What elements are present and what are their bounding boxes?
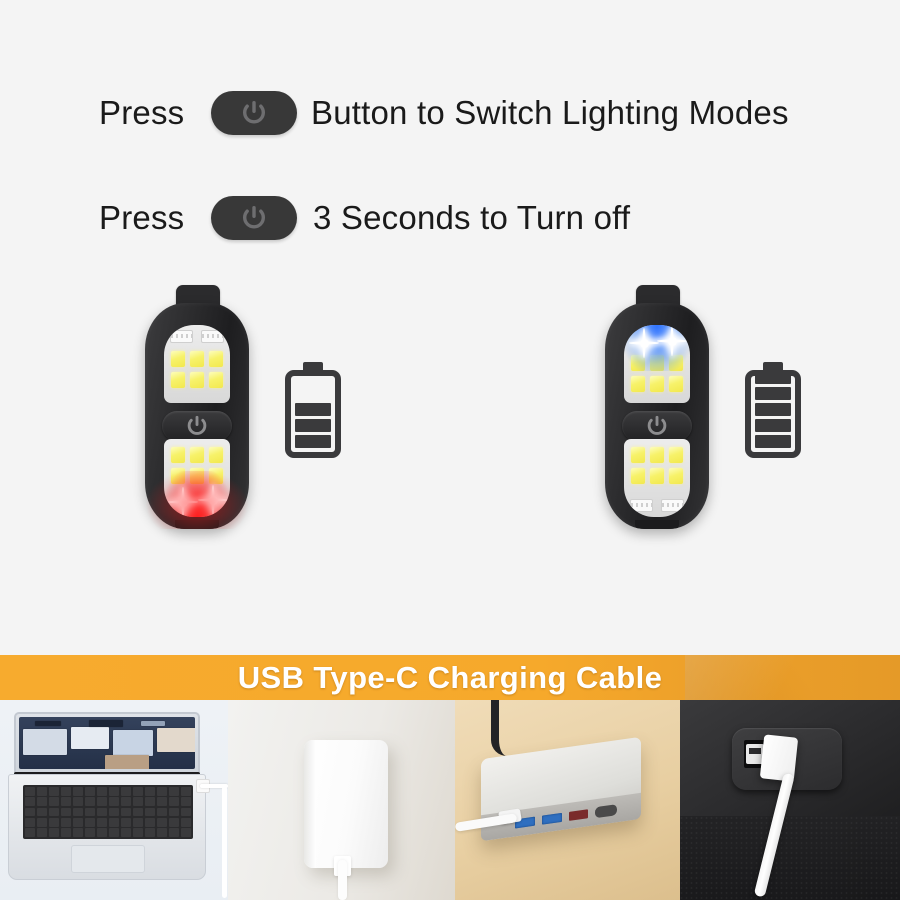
led <box>190 447 204 463</box>
top-led-panel <box>624 325 690 403</box>
battery-bar-empty <box>295 387 331 400</box>
led <box>209 447 223 463</box>
led-grid <box>171 447 223 484</box>
led-grid <box>631 447 683 484</box>
battery-shell <box>745 370 801 458</box>
light-body <box>605 303 709 529</box>
usb-port <box>542 812 562 824</box>
battery-bar-filled <box>755 419 791 432</box>
sparkle-icon <box>629 328 659 358</box>
photo-strip <box>0 700 900 900</box>
sparkle-icon <box>168 487 198 517</box>
device-group-charging-complete <box>605 285 801 535</box>
led-strip <box>170 330 193 343</box>
battery-shell <box>285 370 341 458</box>
led <box>669 376 683 392</box>
product-infographic: Press Button to Switch Lighting Modes Pr… <box>0 0 900 900</box>
instruction-2-tail-text: 3 Seconds to Turn off <box>313 199 630 237</box>
wall-adapter <box>304 740 388 868</box>
laptop-desktop <box>19 717 195 769</box>
adapter-edge <box>304 740 316 868</box>
led <box>171 351 185 367</box>
led <box>190 351 204 367</box>
usb-cable-banner: USB Type-C Charging Cable <box>0 655 900 700</box>
instruction-1-tail-text: Button to Switch Lighting Modes <box>311 94 789 132</box>
bottom-led-panel <box>624 439 690 517</box>
led <box>650 355 664 371</box>
led <box>631 447 645 463</box>
instruction-2-lead-text: Press <box>99 199 195 237</box>
led-grid <box>631 355 683 392</box>
banner-title: USB Type-C Charging Cable <box>238 660 663 696</box>
led-grid <box>171 351 223 388</box>
light-body <box>145 303 249 529</box>
led-strip <box>201 330 224 343</box>
instructions-section: Press Button to Switch Lighting Modes Pr… <box>0 60 900 270</box>
light-foot <box>175 520 219 529</box>
led <box>669 468 683 484</box>
instruction-1-lead-text: Press <box>99 94 195 132</box>
usb-cable <box>338 860 347 900</box>
usb-cable <box>222 786 227 898</box>
usb-hub-charging-photo <box>455 700 680 900</box>
hdmi-port <box>569 809 588 821</box>
power-symbol-icon <box>646 414 668 438</box>
battery-bar-filled <box>755 371 791 384</box>
battery-bar-filled <box>755 387 791 400</box>
led <box>650 447 664 463</box>
light-foot <box>635 520 679 529</box>
led <box>631 355 645 371</box>
power-button-icon <box>211 91 297 135</box>
power-button-icon <box>211 196 297 240</box>
led <box>209 351 223 367</box>
hub-black-cable <box>491 700 507 756</box>
battery-indicator-charging <box>285 362 341 458</box>
led <box>631 468 645 484</box>
led <box>190 372 204 388</box>
led <box>209 372 223 388</box>
laptop-usb-charging-photo <box>0 700 228 900</box>
bottom-led-panel <box>164 439 230 517</box>
wall-adapter-charging-photo <box>228 700 455 900</box>
laptop-base <box>8 774 206 880</box>
sparkle-icon <box>657 326 687 356</box>
battery-bar-filled <box>295 435 331 448</box>
led <box>650 468 664 484</box>
vga-port <box>595 804 617 818</box>
battery-indicator-full <box>745 362 801 458</box>
bike-light-device-complete <box>605 285 709 535</box>
device-group-charging <box>145 285 341 535</box>
laptop-trackpad <box>71 845 145 873</box>
devices-section: Charging Charging Complete <box>0 285 900 640</box>
led <box>171 447 185 463</box>
car-usb-port-charging-photo <box>680 700 900 900</box>
top-led-panel <box>164 325 230 403</box>
battery-bar-filled <box>755 403 791 416</box>
battery-bar-empty <box>295 371 331 384</box>
power-button[interactable] <box>622 411 692 441</box>
bike-light-device-charging <box>145 285 249 535</box>
led <box>171 372 185 388</box>
led <box>190 468 204 484</box>
led-strip <box>661 499 684 512</box>
laptop-screen <box>14 712 200 774</box>
power-button[interactable] <box>162 411 232 441</box>
sparkle-icon <box>198 485 228 515</box>
led <box>669 355 683 371</box>
led <box>171 468 185 484</box>
led <box>209 468 223 484</box>
battery-bar-filled <box>295 419 331 432</box>
led-strip-row <box>630 499 684 512</box>
led-strip <box>630 499 653 512</box>
battery-bar-filled <box>295 403 331 416</box>
usb-plug-icon <box>760 734 798 781</box>
laptop-keyboard <box>23 785 193 839</box>
battery-bar-filled <box>755 435 791 448</box>
instruction-row-2: Press 3 Seconds to Turn off <box>0 165 900 270</box>
instruction-row-1: Press Button to Switch Lighting Modes <box>0 60 900 165</box>
power-symbol-icon <box>186 414 208 438</box>
led <box>669 447 683 463</box>
led-strip-row <box>170 330 224 343</box>
led <box>631 376 645 392</box>
led <box>650 376 664 392</box>
car-interior-texture <box>680 816 900 900</box>
